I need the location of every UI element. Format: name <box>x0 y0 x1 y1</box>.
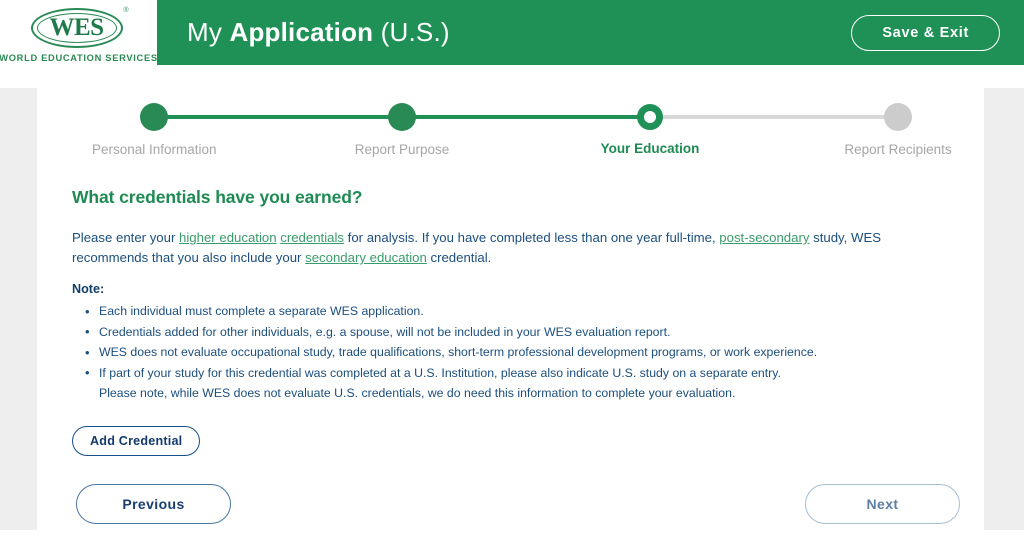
step-dot-done-icon <box>388 103 416 131</box>
step-label: Report Recipients <box>836 142 960 157</box>
intro-text-1: Please enter your <box>72 230 179 245</box>
app-header: WES ® WORLD EDUCATION SERVICES My Applic… <box>0 0 1024 65</box>
progress-stepper: Personal Information Report Purpose Your… <box>37 101 984 191</box>
page-title: My Application (U.S.) <box>187 17 450 48</box>
application-card: Personal Information Report Purpose Your… <box>37 65 984 530</box>
intro-text-5: credential. <box>427 250 492 265</box>
add-credential-button[interactable]: Add Credential <box>72 426 200 456</box>
step-dot-current-icon <box>637 104 663 130</box>
step-label: Personal Information <box>92 142 216 157</box>
section-heading: What credentials have you earned? <box>72 187 960 208</box>
link-secondary-education[interactable]: secondary education <box>305 250 427 265</box>
list-item-text: WES does not evaluate occupational study… <box>99 345 817 359</box>
logo-tagline: WORLD EDUCATION SERVICES <box>0 53 158 63</box>
wes-logo-mark: WES ® <box>27 6 131 52</box>
step-dot-pending-icon <box>884 103 912 131</box>
save-and-exit-button[interactable]: Save & Exit <box>851 15 1000 51</box>
registered-trademark-icon: ® <box>123 7 128 14</box>
step-dot-done-icon <box>140 103 168 131</box>
stepper-step-personal-information[interactable]: Personal Information <box>92 101 216 157</box>
list-item-text: Each individual must complete a separate… <box>99 304 424 318</box>
list-item: If part of your study for this credentia… <box>99 364 960 404</box>
wizard-navigation: Previous Next <box>72 484 960 544</box>
note-list: Each individual must complete a separate… <box>72 302 960 404</box>
page-gutter-right <box>984 88 1024 530</box>
page-title-suffix: (U.S.) <box>373 17 450 47</box>
list-item-continuation: Please note, while WES does not evaluate… <box>99 384 960 404</box>
step-label: Your Education <box>588 141 712 156</box>
link-higher-education[interactable]: higher education <box>179 230 277 245</box>
intro-text-3: for analysis. If you have completed less… <box>344 230 719 245</box>
list-item-text: If part of your study for this credentia… <box>99 366 781 380</box>
note-label: Note: <box>72 282 960 296</box>
header-bar: My Application (U.S.) Save & Exit <box>157 0 1024 65</box>
list-item: Credentials added for other individuals,… <box>99 323 960 343</box>
page-title-prefix: My <box>187 17 229 47</box>
next-button[interactable]: Next <box>805 484 960 524</box>
main-content: What credentials have you earned? Please… <box>72 187 960 456</box>
stepper-step-report-recipients[interactable]: Report Recipients <box>836 101 960 157</box>
page-title-bold: Application <box>229 17 373 47</box>
step-label: Report Purpose <box>340 142 464 157</box>
stepper-step-your-education[interactable]: Your Education <box>588 101 712 156</box>
link-credentials[interactable]: credentials <box>280 230 344 245</box>
previous-button[interactable]: Previous <box>76 484 231 524</box>
intro-paragraph: Please enter your higher education crede… <box>72 228 960 268</box>
list-item: WES does not evaluate occupational study… <box>99 343 960 363</box>
logo-wordmark: WES <box>27 6 127 50</box>
link-post-secondary[interactable]: post-secondary <box>719 230 809 245</box>
page-gutter-left <box>0 88 37 530</box>
list-item: Each individual must complete a separate… <box>99 302 960 322</box>
page-root: WES ® WORLD EDUCATION SERVICES My Applic… <box>0 0 1024 530</box>
list-item-text: Credentials added for other individuals,… <box>99 325 670 339</box>
stepper-step-report-purpose[interactable]: Report Purpose <box>340 101 464 157</box>
